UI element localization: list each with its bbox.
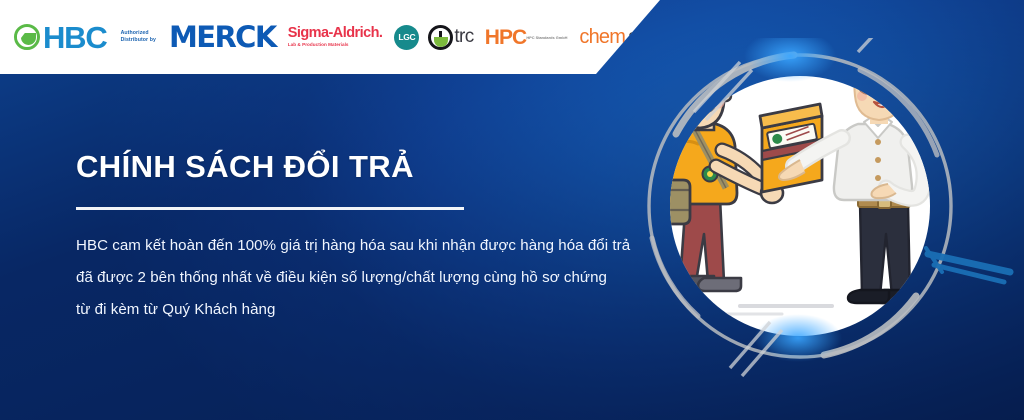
logo-hbc[interactable]: HBC: [14, 22, 107, 53]
merck-wordmark: MERCK: [169, 23, 276, 52]
hpc-tagline: HPC Standards GmbH: [526, 36, 567, 40]
chemservice-wordmark-light: chem: [579, 26, 625, 49]
banner-root: HBC Authorized Distributor by MERCK Sigm…: [0, 0, 1024, 420]
authorized-line-1: Authorized: [121, 30, 156, 37]
logo-sigma-aldrich[interactable]: Sigma-Aldrich. Lab & Production Material…: [288, 26, 383, 47]
policy-line-1: HBC cam kết hoàn đến 100% giá trị hàng h…: [76, 230, 636, 262]
logo-strip: HBC Authorized Distributor by MERCK Sigm…: [0, 0, 711, 74]
logo-lgc[interactable]: LGC: [394, 25, 419, 50]
authorized-line-2: Distributor by: [121, 37, 156, 44]
flask-icon: [428, 25, 453, 50]
authorized-distributor-note: Authorized Distributor by: [121, 30, 156, 45]
accent-lines: [926, 248, 1010, 282]
hpc-wordmark: HPC: [485, 27, 527, 48]
partner-logo-bar: HBC Authorized Distributor by MERCK Sigm…: [0, 0, 660, 74]
logo-hpc[interactable]: HPC HPC Standards GmbH: [485, 27, 568, 48]
page-title: CHÍNH SÁCH ĐỔI TRẢ: [76, 150, 636, 185]
policy-line-3: từ đi kèm từ Quý Khách hàng: [76, 294, 636, 326]
sigma-tagline: Lab & Production Materials: [288, 43, 383, 48]
policy-line-2: đã được 2 bên thống nhất về điều kiện số…: [76, 262, 636, 294]
policy-body-text: HBC cam kết hoàn đến 100% giá trị hàng h…: [76, 230, 636, 326]
hbc-leaf-icon: [14, 24, 40, 50]
sigma-wordmark: Sigma-Aldrich.: [288, 26, 383, 41]
hbc-wordmark: HBC: [43, 22, 107, 53]
policy-text-block: CHÍNH SÁCH ĐỔI TRẢ HBC cam kết hoàn đến …: [76, 150, 636, 326]
illustration-delivery-handover: [612, 38, 1024, 420]
title-underline-rule: [76, 207, 464, 210]
trc-wordmark: trc: [454, 26, 473, 48]
logo-merck[interactable]: MERCK: [169, 23, 276, 52]
lgc-badge-icon: LGC: [394, 25, 419, 50]
logo-trc[interactable]: trc: [428, 25, 473, 50]
